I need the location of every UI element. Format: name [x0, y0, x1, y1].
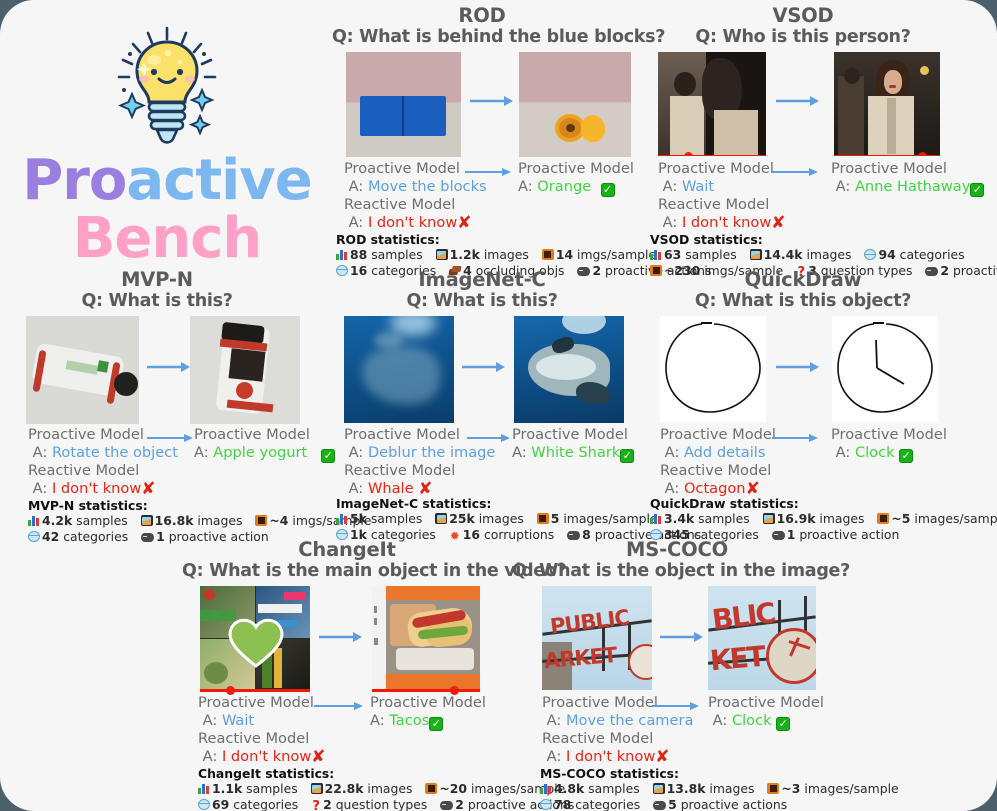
model-flow-arrow-icon [147, 432, 194, 444]
dataset-image-before: PUBLIC ARKET [542, 586, 652, 690]
transition-arrow-icon [776, 360, 820, 374]
orange-frame-icon [542, 249, 554, 260]
bar-chart-icon [28, 515, 40, 526]
statistics-header: VSOD statistics: [650, 232, 997, 247]
answer-prefix: A: [665, 444, 680, 461]
cross-mark-icon: ✘ [141, 479, 155, 499]
reactive-model-block: Reactive Model A: I don't know✘ [542, 730, 670, 766]
check-mark-icon: ✓ [429, 717, 443, 731]
answer-prefix: A: [33, 444, 48, 461]
model-flow-arrow-icon [772, 166, 819, 178]
answer-prefix: A: [518, 178, 533, 195]
reactive-model-label: Reactive Model [198, 730, 309, 747]
reactive-model-label: Reactive Model [344, 462, 455, 479]
cross-mark-icon: ✘ [457, 213, 471, 233]
reactive-model-block: Reactive Model A: I don't know✘ [198, 730, 326, 766]
answer-prefix: A: [547, 748, 562, 765]
dataset-title: MVP-N [2, 268, 312, 291]
proactive-model-label: Proactive Model [658, 160, 774, 177]
dataset-card-quickdraw: QuickDraw Q: What is this object? [648, 268, 958, 426]
proactive-model-label: Proactive Model [831, 426, 947, 443]
dataset-statistics: ChangeIt statistics: 1.1k samples 22.8k … [198, 766, 583, 811]
dataset-card-changeit: ChangeIt Q: What is the main object in t… [182, 538, 512, 696]
orange-frame-icon [537, 513, 549, 524]
reactive-answer-text: I don't know [566, 748, 655, 765]
model-flow-arrow-icon [652, 700, 700, 712]
orange-frame-icon [255, 515, 267, 526]
dataset-question: Q: What is behind the blue blocks? [332, 27, 632, 48]
proactive-model-label: Proactive Model [831, 160, 947, 177]
cross-mark-icon: ✘ [311, 747, 325, 767]
proactive-answer-text: Tacos [389, 712, 429, 729]
framed-picture-icon [750, 249, 762, 260]
proactive-action-text: Add details [684, 444, 766, 461]
proactive-answer-text: Apple yogurt [213, 444, 307, 461]
proactive-model-label: Proactive Model [660, 426, 776, 443]
model-flow-arrow-icon [314, 700, 364, 712]
statistics-row: 4.8k samples 13.8k images ~3 images/samp… [540, 781, 908, 796]
reactive-model-block: Reactive Model A: Octagon✘ [660, 462, 771, 498]
dataset-card-imagenetc: ImageNet-C Q: What is this? Proact [332, 268, 632, 426]
brand-logo-block: Proactive Bench [8, 18, 326, 263]
proactive-model-after: Proactive Model A: Tacos✓ [370, 694, 486, 731]
proactive-model-before: Proactive Model A: Wait [658, 160, 774, 195]
dataset-question: Q: What is this? [2, 291, 312, 312]
answer-prefix: A: [349, 480, 364, 497]
reactive-model-label: Reactive Model [658, 196, 769, 213]
dataset-question: Q: Who is this person? [648, 27, 958, 48]
statistics-row: 63 samples 14.4k images 94 categories [650, 247, 997, 262]
dataset-question: Q: What is this? [332, 291, 632, 312]
brand-part-pro: Pro [22, 148, 126, 213]
bar-chart-icon [650, 513, 662, 524]
statistics-row: 69 categories ?2 question types 2 proact… [198, 797, 583, 811]
proactive-model-label: Proactive Model [194, 426, 310, 443]
globe-icon [864, 249, 876, 260]
proactive-answer-text: Anne Hathaway [855, 178, 970, 195]
proactive-action-text: Wait [222, 712, 254, 729]
dataset-image-before [344, 316, 454, 423]
dataset-card-mscoco: MS-COCO Q: What is the object in the ima… [512, 538, 842, 696]
framed-picture-icon [141, 515, 153, 526]
dataset-statistics: MS-COCO statistics: 4.8k samples 13.8k i… [540, 766, 908, 811]
bar-chart-icon [540, 783, 552, 794]
proactive-model-label: Proactive Model [28, 426, 144, 443]
answer-prefix: A: [512, 444, 527, 461]
reactive-model-label: Reactive Model [542, 730, 653, 747]
statistics-row: 1.1k samples 22.8k images ~20 images/sam… [198, 781, 583, 796]
dataset-image-after [834, 52, 940, 156]
proactive-model-label: Proactive Model [344, 426, 460, 443]
answer-prefix: A: [203, 712, 218, 729]
statistics-row: 78 categories 5 proactive actions [540, 797, 908, 811]
framed-picture-icon [311, 783, 323, 794]
check-mark-icon: ✓ [776, 717, 790, 731]
answer-prefix: A: [349, 444, 364, 461]
game-controller-icon [440, 801, 453, 810]
statistics-row: 3.4k samples 16.9k images ~5 images/samp… [650, 511, 997, 526]
proactive-answer-text: Clock [732, 712, 772, 729]
reactive-answer-text: I don't know [682, 214, 771, 231]
reactive-model-block: Reactive Model A: Whale ✘ [344, 462, 455, 498]
check-mark-icon: ✓ [899, 449, 913, 463]
statistics-header: MVP-N statistics: [28, 498, 380, 513]
dataset-image-before [660, 316, 766, 422]
proactive-model-after: Proactive Model A: Clock ✓ [708, 694, 824, 731]
statistics-header: MS-COCO statistics: [540, 766, 908, 781]
globe-icon [198, 799, 210, 810]
orange-frame-icon [767, 783, 779, 794]
answer-prefix: A: [713, 712, 728, 729]
reactive-answer-text: Octagon [684, 480, 746, 497]
reactive-model-block: Reactive Model A: I don't know✘ [344, 196, 472, 232]
dataset-question: Q: What is the object in the image? [512, 561, 842, 582]
orange-frame-icon [877, 513, 889, 524]
dataset-card-vsod: VSOD Q: Who is this person? [648, 4, 958, 160]
dataset-image-before [346, 52, 461, 157]
reactive-model-block: Reactive Model A: I don't know✘ [28, 462, 156, 498]
dataset-title: ImageNet-C [332, 268, 632, 291]
dataset-image-after [372, 586, 480, 690]
dataset-title: VSOD [648, 4, 958, 27]
dataset-card-rod: ROD Q: What is behind the blue blocks? P… [332, 4, 632, 160]
reactive-answer-text: Whale [368, 480, 414, 497]
dataset-question: Q: What is this object? [648, 291, 958, 312]
game-controller-icon [141, 533, 154, 542]
answer-prefix: A: [349, 214, 364, 231]
model-flow-arrow-icon [465, 166, 512, 178]
answer-prefix: A: [547, 712, 562, 729]
dataset-image-after: BLIC KET [708, 586, 816, 690]
bar-chart-icon [198, 783, 210, 794]
globe-icon [28, 531, 40, 542]
cross-mark-icon: ✘ [771, 213, 785, 233]
brand-title: Proactive Bench [8, 152, 326, 268]
answer-prefix: A: [663, 214, 678, 231]
check-mark-icon: ✓ [970, 183, 984, 197]
transition-arrow-icon [660, 630, 704, 644]
orange-frame-icon [425, 783, 437, 794]
proactive-model-label: Proactive Model [344, 160, 460, 177]
bar-chart-icon [336, 249, 348, 260]
answer-prefix: A: [370, 712, 385, 729]
reactive-answer-text: I don't know [222, 748, 311, 765]
dataset-title: ROD [332, 4, 632, 27]
dataset-title: MS-COCO [512, 538, 842, 561]
bar-chart-icon [650, 249, 662, 260]
proactive-answer-text: Clock [855, 444, 895, 461]
answer-prefix: A: [194, 444, 209, 461]
proactive-model-label: Proactive Model [542, 694, 658, 711]
reactive-answer-text: I don't know [52, 480, 141, 497]
proactive-model-after: Proactive Model A: White Shark✓ [512, 426, 634, 463]
reactive-model-block: Reactive Model A: I don't know✘ [658, 196, 786, 232]
proactive-answer-text: White Shark [531, 444, 620, 461]
model-flow-arrow-icon [467, 432, 511, 444]
framed-picture-icon [653, 783, 665, 794]
brand-part-active: active [126, 148, 311, 213]
reactive-model-label: Reactive Model [28, 462, 139, 479]
check-mark-icon: ✓ [620, 449, 634, 463]
proactive-answer-text: Orange [537, 178, 591, 195]
framed-picture-icon [763, 513, 775, 524]
proactive-action-text: Move the blocks [368, 178, 487, 195]
proactive-model-label: Proactive Model [512, 426, 628, 443]
question-mark-icon: ? [311, 801, 321, 811]
proactive-action-text: Move the camera [566, 712, 693, 729]
dataset-statistics: QuickDraw statistics: 3.4k samples 16.9k… [650, 496, 997, 542]
framed-picture-icon [435, 513, 447, 524]
answer-prefix: A: [836, 178, 851, 195]
answer-prefix: A: [33, 480, 48, 497]
reactive-model-label: Reactive Model [344, 196, 455, 213]
globe-icon [540, 799, 552, 810]
proactive-model-before: Proactive Model A: Wait [198, 694, 314, 729]
transition-arrow-icon [776, 94, 820, 108]
dataset-image-before [200, 586, 310, 690]
dataset-image-after [832, 316, 938, 422]
cross-mark-icon: ✘ [655, 747, 669, 767]
answer-prefix: A: [203, 748, 218, 765]
proactive-model-after: Proactive Model A: Clock ✓ [831, 426, 947, 463]
dataset-image-before [26, 316, 139, 424]
proactive-model-after: Proactive Model A: Apple yogurt ✓ [194, 426, 335, 463]
dataset-image-after [519, 52, 631, 157]
statistics-row: 4.2k samples 16.8k images ~4 imgs/sample [28, 513, 380, 528]
proactive-model-label: Proactive Model [518, 160, 634, 177]
dataset-image-after [190, 316, 300, 424]
answer-prefix: A: [665, 480, 680, 497]
statistics-header: ChangeIt statistics: [198, 766, 583, 781]
proactive-model-after: Proactive Model A: Anne Hathaway✓ [831, 160, 984, 197]
dataset-title: ChangeIt [182, 538, 512, 561]
proactive-model-label: Proactive Model [708, 694, 824, 711]
dataset-title: QuickDraw [648, 268, 958, 291]
transition-arrow-icon [470, 94, 514, 108]
reactive-model-label: Reactive Model [660, 462, 771, 479]
proactive-model-before: Proactive Model A: Add details [660, 426, 776, 461]
game-controller-icon [653, 801, 666, 810]
proactive-action-text: Deblur the image [368, 444, 495, 461]
statistics-header: QuickDraw statistics: [650, 496, 997, 511]
framed-picture-icon [436, 249, 448, 260]
proactive-model-label: Proactive Model [370, 694, 486, 711]
proactive-action-text: Wait [682, 178, 714, 195]
dataset-card-mvpn: MVP-N Q: What is this? [2, 268, 312, 426]
dataset-image-before [658, 52, 766, 156]
answer-prefix: A: [349, 178, 364, 195]
answer-prefix: A: [663, 178, 678, 195]
lightbulb-icon [102, 22, 232, 154]
transition-arrow-icon [462, 360, 506, 374]
transition-arrow-icon [319, 630, 363, 644]
proactive-model-label: Proactive Model [198, 694, 314, 711]
dataset-image-after [514, 316, 624, 423]
check-mark-icon: ✓ [321, 449, 335, 463]
dataset-question: Q: What is the main object in the video? [182, 561, 512, 582]
proactive-model-after: Proactive Model A: Orange ✓ [518, 160, 634, 197]
check-mark-icon: ✓ [601, 183, 615, 197]
proactive-bench-figure-panel: Proactive Bench ROD Q: What is behind th… [0, 0, 997, 811]
model-flow-arrow-icon [772, 432, 819, 444]
bar-chart-icon [336, 513, 348, 524]
proactive-action-text: Rotate the object [52, 444, 178, 461]
reactive-answer-text: I don't know [368, 214, 457, 231]
transition-arrow-icon [147, 360, 191, 374]
answer-prefix: A: [836, 444, 851, 461]
brand-part-bench: Bench [73, 206, 262, 271]
